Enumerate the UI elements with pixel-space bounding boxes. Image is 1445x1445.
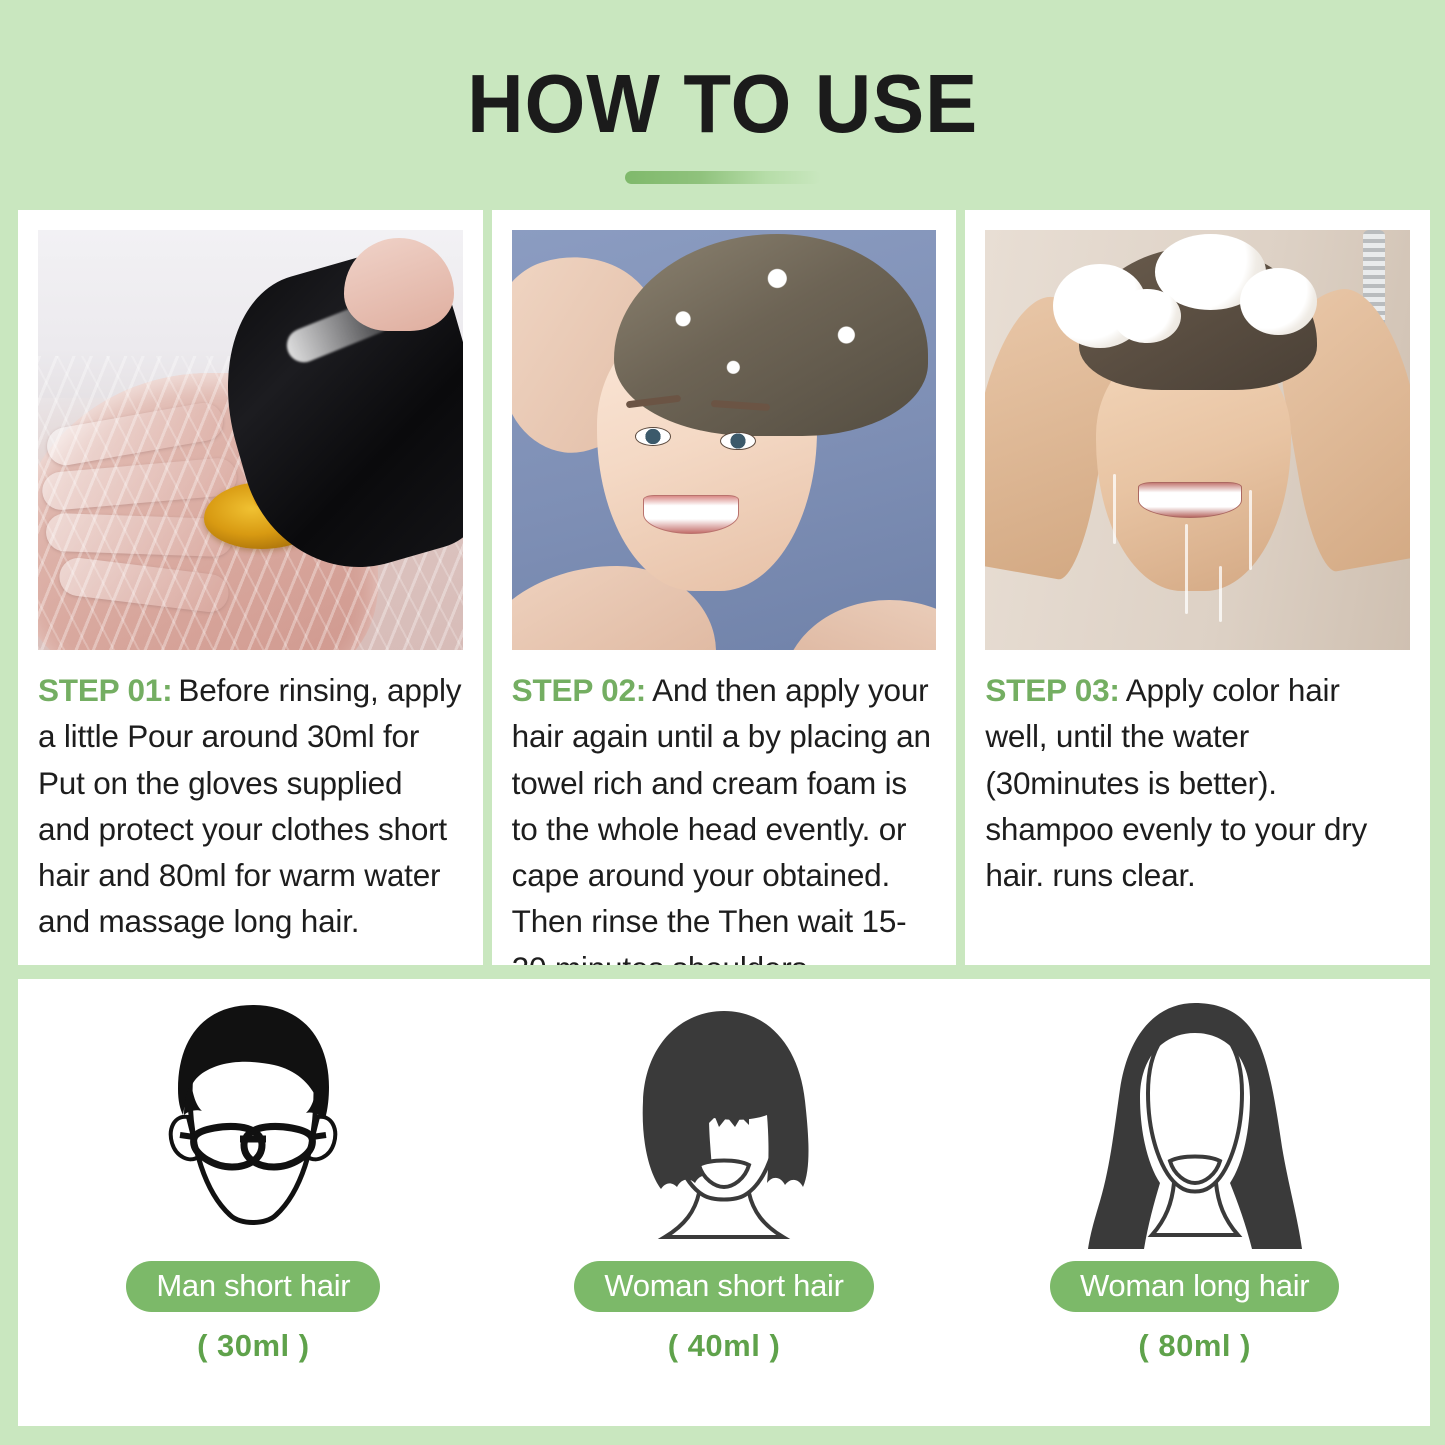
step-1-label: STEP 01: bbox=[38, 672, 172, 708]
step-2-body: And then apply your hair again until a b… bbox=[512, 672, 931, 965]
man-short-hair-icon bbox=[128, 997, 378, 1255]
step-2-text: STEP 02:And then apply your hair again u… bbox=[512, 667, 937, 965]
hair-type-man-short: Man short hair ( 30ml ) bbox=[18, 979, 489, 1426]
hair-volume-woman-short: ( 40ml ) bbox=[668, 1330, 781, 1361]
step-1-text: STEP 01:Before rinsing, apply a little P… bbox=[38, 667, 463, 945]
hair-type-woman-short: Woman short hair ( 40ml ) bbox=[489, 979, 960, 1426]
eye-shape bbox=[635, 427, 671, 446]
hair-type-label-man-short: Man short hair bbox=[126, 1261, 380, 1312]
steps-row: STEP 01:Before rinsing, apply a little P… bbox=[18, 210, 1430, 965]
step-card-3: STEP 03:Apply color hair well, until the… bbox=[965, 210, 1430, 965]
hair-type-dosage-panel: Man short hair ( 30ml ) Woman short hair… bbox=[18, 979, 1430, 1426]
hair-type-label-woman-long: Woman long hair bbox=[1050, 1261, 1339, 1312]
water-drop-shape bbox=[1219, 566, 1222, 622]
foam-shape bbox=[1240, 268, 1316, 335]
step-3-text: STEP 03:Apply color hair well, until the… bbox=[985, 667, 1410, 898]
smile-shape bbox=[1138, 482, 1242, 518]
title-underline-decoration bbox=[625, 171, 821, 184]
step-1-body: Before rinsing, apply a little Pour arou… bbox=[38, 672, 461, 939]
step-3-label: STEP 03: bbox=[985, 672, 1119, 708]
hair-volume-woman-long: ( 80ml ) bbox=[1138, 1330, 1251, 1361]
water-drop-shape bbox=[1113, 474, 1116, 544]
woman-long-hair-icon bbox=[1070, 997, 1320, 1255]
hair-type-woman-long: Woman long hair ( 80ml ) bbox=[959, 979, 1430, 1426]
page-title: HOW TO USE bbox=[467, 62, 978, 145]
step-card-1: STEP 01:Before rinsing, apply a little P… bbox=[18, 210, 483, 965]
hair-volume-man-short: ( 30ml ) bbox=[197, 1330, 310, 1361]
step-1-photo-pouring-oil-onto-gloved-hand bbox=[38, 230, 463, 650]
hair-type-label-woman-short: Woman short hair bbox=[574, 1261, 873, 1312]
step-card-2: STEP 02:And then apply your hair again u… bbox=[492, 210, 957, 965]
shoulder-shape bbox=[783, 600, 936, 650]
foam-shape bbox=[1113, 289, 1181, 344]
water-drop-shape bbox=[1249, 490, 1252, 570]
step-2-label: STEP 02: bbox=[512, 672, 646, 708]
water-drop-shape bbox=[1185, 524, 1188, 614]
woman-short-hair-icon bbox=[599, 997, 849, 1255]
step-2-photo-woman-lathering-hair bbox=[512, 230, 937, 650]
eye-shape bbox=[720, 432, 756, 451]
step-3-photo-woman-rinsing-hair-in-shower bbox=[985, 230, 1410, 650]
header: HOW TO USE bbox=[0, 0, 1445, 184]
lathered-hair-shape bbox=[614, 234, 928, 436]
